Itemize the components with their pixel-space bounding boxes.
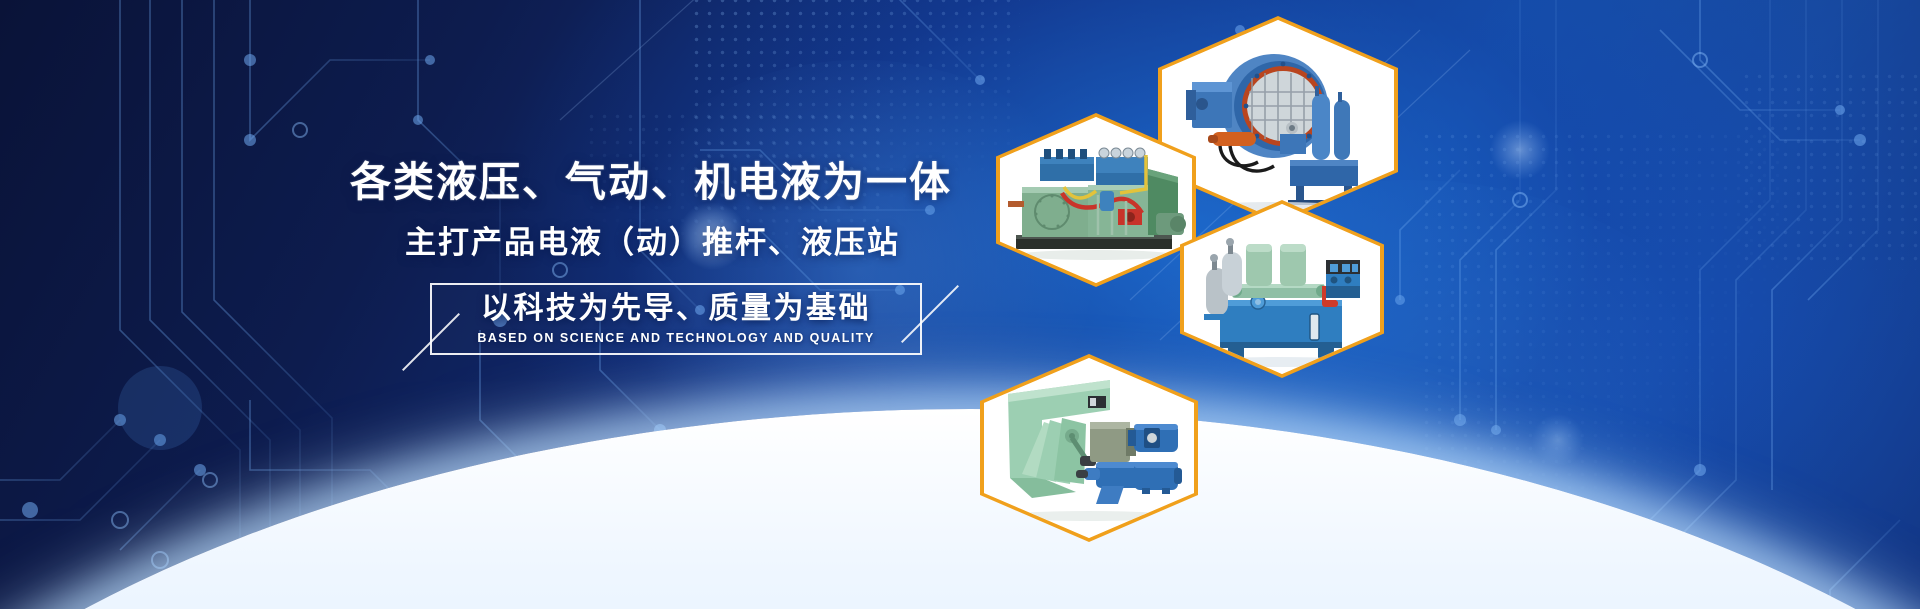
- page-subtitle: 主打产品电液（动）推杆、液压站: [0, 224, 900, 261]
- product-hex-hydraulic-station[interactable]: [1180, 200, 1384, 378]
- station-photo: [1184, 204, 1380, 374]
- slogan-box: 以科技为先导、质量为基础 BASED ON SCIENCE AND TECHNO…: [430, 283, 922, 355]
- slogan-chinese: 以科技为先导、质量为基础: [481, 293, 871, 325]
- product-hex-electro-hydraulic-push-rod[interactable]: [980, 354, 1198, 542]
- dot-grid-far-right: [1740, 70, 1920, 270]
- push-rod-photo: [984, 358, 1194, 538]
- page-title: 各类液压、气动、机电液为一体: [0, 158, 952, 207]
- hero-banner: 各类液压、气动、机电液为一体 主打产品电液（动）推杆、液压站 以科技为先导、质量…: [0, 0, 1920, 609]
- product-hex-hydraulic-power-unit[interactable]: [996, 113, 1196, 287]
- slogan-english: BASED ON SCIENCE AND TECHNOLOGY AND QUAL…: [477, 331, 874, 345]
- valve-photo: [1162, 20, 1394, 220]
- power-unit-photo: [1000, 117, 1192, 283]
